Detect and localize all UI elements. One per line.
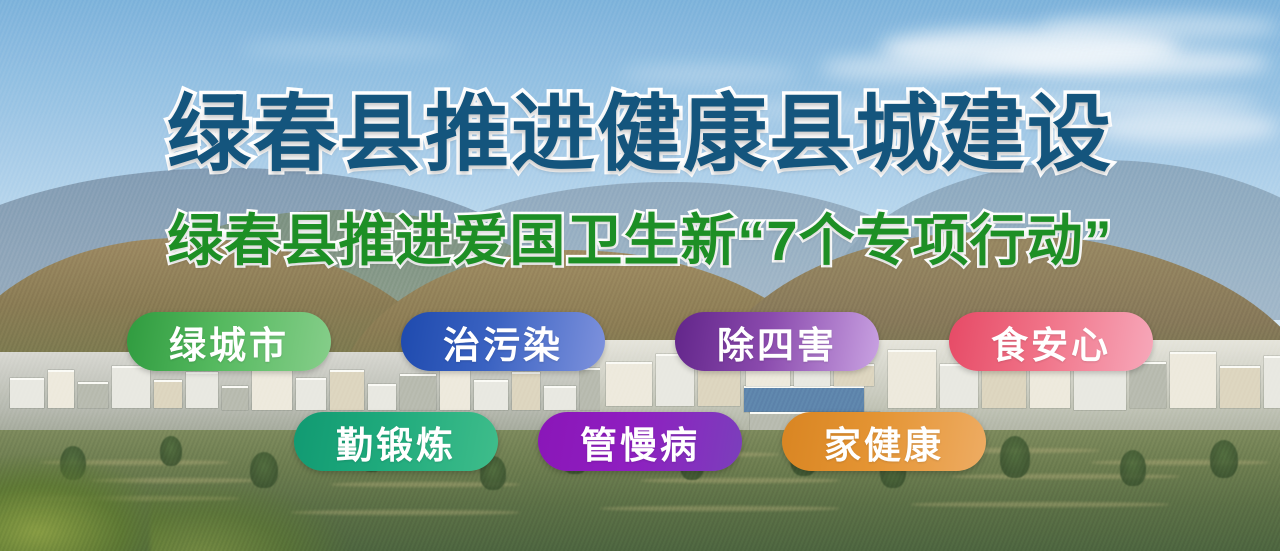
pill-guan-man-bing[interactable]: 管慢病: [538, 412, 742, 471]
pill-label: 管慢病: [580, 415, 700, 469]
pill-label: 勤锻炼: [336, 415, 456, 469]
pill-chu-si-hai[interactable]: 除四害: [675, 312, 879, 371]
pill-lv-cheng-shi[interactable]: 绿城市: [127, 312, 331, 371]
banner-title: 绿春县推进健康县城建设: [0, 92, 1280, 176]
pill-jia-jian-kang[interactable]: 家健康: [782, 412, 986, 471]
health-county-banner: 绿春县推进健康县城建设 绿春县推进爱国卫生新“7个专项行动” 绿城市 治污染 除…: [0, 0, 1280, 551]
pill-shi-an-xin[interactable]: 食安心: [949, 312, 1153, 371]
pill-label: 绿城市: [169, 315, 289, 369]
pill-label: 除四害: [717, 315, 837, 369]
pill-label: 治污染: [443, 315, 563, 369]
pill-row-2: 勤锻炼 管慢病 家健康: [0, 412, 1280, 471]
pill-qin-duan-lian[interactable]: 勤锻炼: [294, 412, 498, 471]
banner-content: 绿春县推进健康县城建设 绿春县推进爱国卫生新“7个专项行动” 绿城市 治污染 除…: [0, 0, 1280, 551]
pill-row-1: 绿城市 治污染 除四害 食安心: [0, 312, 1280, 371]
pill-label: 食安心: [991, 315, 1111, 369]
pill-label: 家健康: [824, 415, 944, 469]
banner-subtitle: 绿春县推进爱国卫生新“7个专项行动”: [0, 213, 1280, 269]
pill-zhi-wu-ran[interactable]: 治污染: [401, 312, 605, 371]
